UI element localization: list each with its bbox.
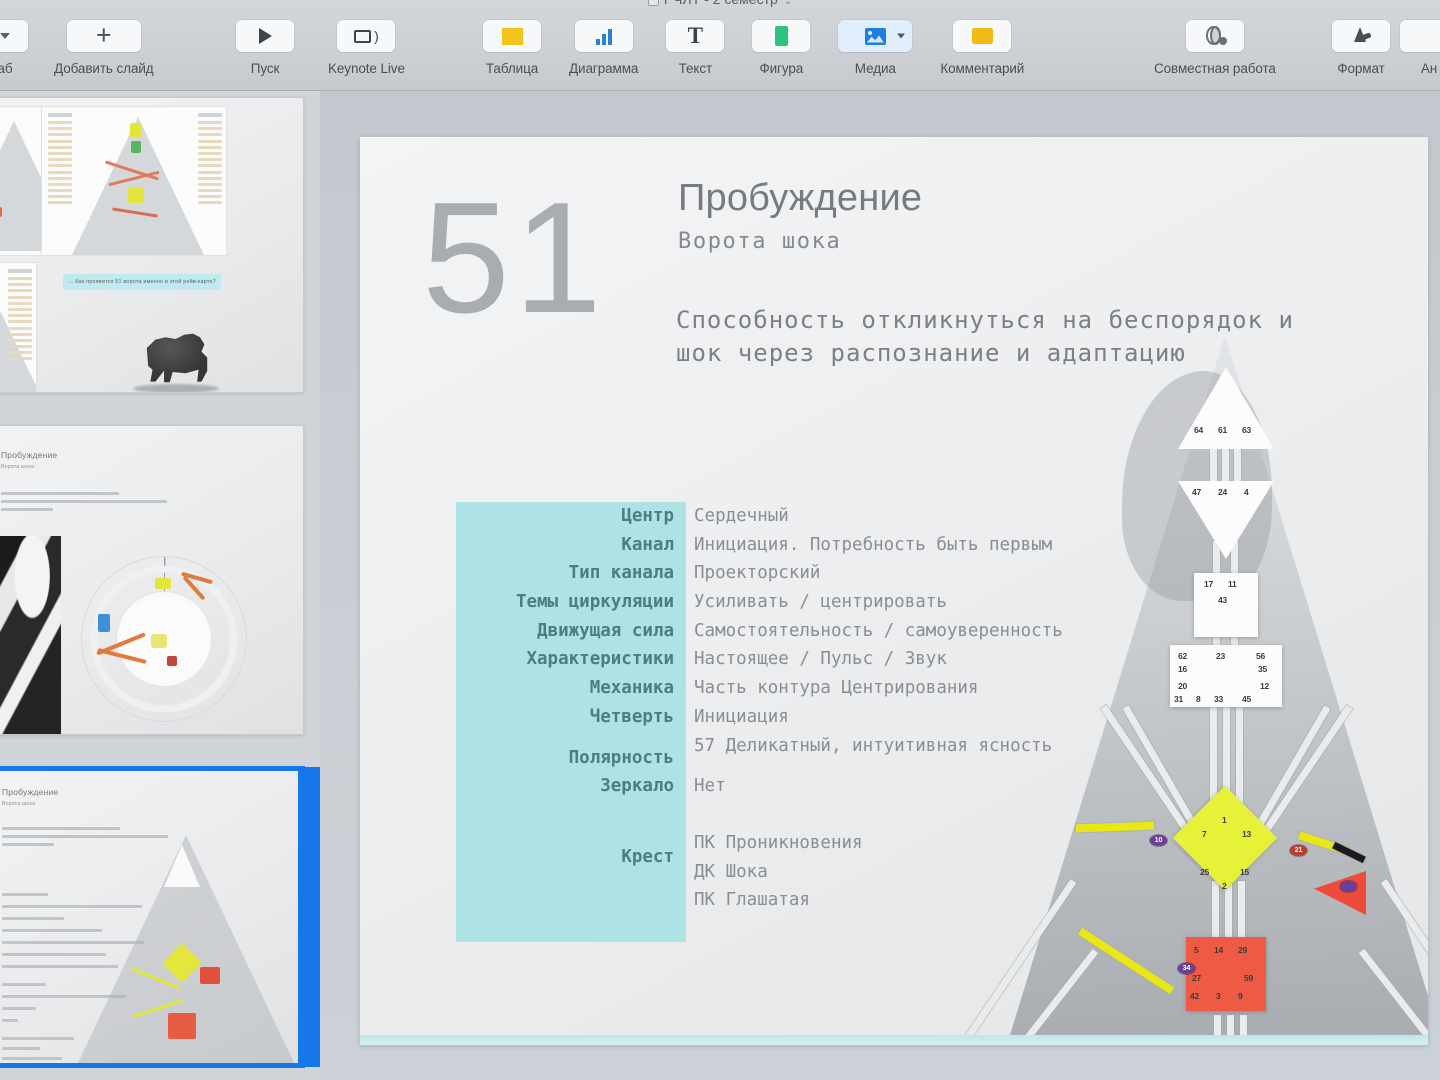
comment-button[interactable]	[953, 20, 1011, 52]
keynote-live-icon: )	[354, 28, 379, 44]
g-marker	[128, 187, 144, 203]
planet-activation-34: 34	[1178, 963, 1195, 974]
info-table: Центр Сердечный Канал Инициация. Потребн…	[456, 502, 1096, 915]
slide-title: Пробуждение	[678, 177, 922, 220]
info-value: Проекторский	[686, 559, 1096, 588]
toolbar-table[interactable]: Таблица	[483, 20, 541, 76]
toolbar-play[interactable]: Пуск	[236, 20, 294, 76]
shape-label: Фигура	[759, 61, 803, 76]
center-marker	[0, 207, 2, 217]
gate-label: 29	[1238, 945, 1247, 955]
toolbar-add-slide[interactable]: Добавить слайд	[54, 20, 154, 76]
animate-button[interactable]	[1400, 20, 1440, 52]
view-menu-button[interactable]	[0, 20, 28, 52]
throat-center-box: 62 23 56 16 35 20 12 31 8 33 45	[1170, 645, 1282, 707]
text-label: Текст	[679, 61, 713, 76]
play-button[interactable]	[236, 20, 294, 52]
comment-label: Комментарий	[940, 61, 1024, 76]
gate-label: 64	[1194, 425, 1203, 435]
slide-subtitle: Ворота шока	[678, 229, 841, 254]
window-title-text: РЧЛТ - 2 семестр	[664, 0, 778, 7]
gate-label: 3	[1216, 991, 1221, 1001]
info-value: Самостоятельность / самоуверенность	[686, 617, 1096, 646]
channel-head-ajna	[1234, 449, 1241, 483]
media-icon	[865, 28, 886, 45]
info-value: 57 Деликатный, интуитивная ясность	[686, 732, 1076, 773]
text-icon[interactable]	[666, 20, 724, 52]
thumb2-text-line	[1, 492, 119, 495]
gate-column	[198, 113, 222, 208]
gate-label: 56	[1256, 651, 1265, 661]
toolbar-collaborate[interactable]: Совместная работа	[1154, 20, 1276, 76]
info-value: Нет	[686, 772, 1096, 801]
thumb3-table-line	[2, 983, 46, 986]
gate-label: 16	[1178, 664, 1187, 674]
collaborate-button[interactable]	[1186, 20, 1244, 52]
thumb3-table-line	[2, 1057, 62, 1060]
gate-label: 5	[1194, 945, 1199, 955]
channel-head-ajna	[1210, 449, 1217, 483]
current-slide[interactable]: 51 Пробуждение Ворота шока Способность о…	[360, 137, 1428, 1045]
plus-icon[interactable]	[67, 20, 141, 52]
info-key: Полярность	[456, 732, 686, 773]
thumb2-subtitle: Ворота шока	[1, 464, 34, 470]
table-button[interactable]	[483, 20, 541, 52]
document-icon	[648, 0, 659, 6]
media-button[interactable]	[838, 20, 912, 52]
gate-label: 14	[1214, 945, 1223, 955]
info-value: Инициация. Потребность быть первым	[686, 531, 1096, 560]
slide-canvas[interactable]: 51 Пробуждение Ворота шока Способность о…	[320, 91, 1440, 1080]
planet-activation-heart	[1340, 881, 1357, 892]
chevron-down-icon	[0, 33, 10, 39]
gate-label: 12	[1260, 681, 1269, 691]
toolbar-text[interactable]: Текст	[666, 20, 724, 76]
gate-label: 11	[1228, 579, 1237, 589]
collaborate-icon	[1204, 26, 1226, 46]
gate-label: 24	[1218, 487, 1227, 497]
gate-label: 17	[1204, 579, 1213, 589]
gate-label: 9	[1238, 991, 1243, 1001]
gate-label: 7	[1202, 829, 1207, 839]
planet-activation-51: 10	[1150, 835, 1167, 846]
throat-center: 17 11 43	[1194, 573, 1258, 637]
ram-shadow	[133, 384, 219, 393]
table-icon	[502, 28, 523, 45]
window-title-bar: РЧЛТ - 2 семестр⌄	[0, 0, 1440, 7]
gate-number: 51	[422, 179, 606, 337]
chart-icon	[596, 27, 612, 45]
gate-column	[48, 113, 72, 208]
info-key: Канал	[456, 531, 686, 560]
toolbar-animate[interactable]: Ан	[1400, 20, 1440, 76]
slide-bottom-accent-bar	[360, 1035, 1428, 1045]
thumb3-text-line	[2, 827, 120, 830]
g-center-marker	[130, 123, 142, 137]
thumb3-subtitle: Ворота шока	[2, 801, 35, 807]
slide-thumbnail-1[interactable]: … Как проявится 51 ворота именно в этой …	[0, 97, 304, 393]
toolbar-comment[interactable]: Комментарий	[940, 20, 1024, 76]
toolbar-view-button[interactable]: аб	[0, 20, 28, 76]
gate-label: 20	[1178, 681, 1187, 691]
animate-label: Ан	[1421, 61, 1437, 76]
gate-label: 8	[1196, 694, 1201, 704]
thumb2-title: Пробуждение	[1, 450, 57, 460]
gate-label: 2	[1222, 881, 1227, 891]
mini-panel-b	[41, 106, 227, 256]
gate-label: 4	[1244, 487, 1249, 497]
info-key: Темы циркуляции	[456, 588, 686, 617]
info-key: Четверть	[456, 703, 686, 732]
channel-head-ajna	[1222, 449, 1229, 483]
mini-panel-c	[0, 262, 37, 393]
keynote-live-button[interactable]: )	[337, 20, 395, 52]
chevron-down-icon[interactable]	[897, 34, 905, 39]
mandala-marker	[155, 578, 171, 589]
gate-label: 13	[1242, 829, 1251, 839]
pyramid-shape	[72, 117, 204, 255]
shape-button[interactable]	[752, 20, 810, 52]
title-chevron-icon[interactable]: ⌄	[784, 0, 792, 7]
speech-bubble: … Как проявится 51 ворота именно в этой …	[63, 274, 221, 290]
info-value: Усиливать / центрировать	[686, 588, 1096, 617]
info-value: Сердечный	[686, 502, 1096, 531]
planet-activation-21: 21	[1290, 845, 1307, 856]
chart-button[interactable]	[575, 20, 633, 52]
info-key: Тип канала	[456, 559, 686, 588]
gate-label: 33	[1214, 694, 1223, 704]
table-label: Таблица	[486, 61, 538, 76]
info-value: Инициация	[686, 703, 1096, 732]
mandala-center	[151, 634, 167, 648]
gate-label: 15	[1240, 867, 1249, 877]
chart-label: Диаграмма	[569, 61, 638, 76]
format-button[interactable]	[1332, 20, 1390, 52]
thumb2-text-line	[1, 508, 53, 511]
mandala-marker	[167, 656, 177, 666]
gate-label: 61	[1218, 425, 1227, 435]
thumb3-sacral-center	[168, 1013, 196, 1039]
bw-photo	[0, 536, 61, 735]
gate-column	[8, 269, 32, 364]
gate-label: 1	[1222, 815, 1227, 825]
gate-label: 43	[1218, 595, 1227, 605]
play-icon	[259, 28, 272, 44]
add-slide-label: Добавить слайд	[54, 61, 154, 76]
slide-navigator[interactable]: … Как проявится 51 ворота именно в этой …	[0, 91, 320, 1080]
format-brush-icon	[1350, 26, 1372, 46]
info-value: Часть контура Центрирования	[686, 674, 1096, 703]
shape-icon	[775, 26, 788, 46]
app-toolbar: РЧЛТ - 2 семестр⌄ аб Добавить слайд Пуск…	[0, 0, 1440, 91]
gate-label: 25	[1200, 867, 1209, 877]
thumb2-text-line	[1, 500, 167, 503]
comment-icon	[972, 28, 993, 44]
thumb3-table-line	[2, 1019, 18, 1022]
thumb3-table-line	[2, 1037, 74, 1040]
toolbar-media[interactable]: Медиа	[838, 20, 912, 76]
thumb3-table-line	[2, 917, 64, 920]
thumb3-text-line	[2, 843, 54, 846]
sacral-center: 5 14 29 27 59 42 3 9	[1186, 937, 1266, 1011]
gate-label: 42	[1190, 991, 1199, 1001]
keynote-live-label: Keynote Live	[328, 61, 405, 76]
slide-thumbnail-2[interactable]: Пробуждение Ворота шока	[0, 425, 304, 735]
thumb3-table-line	[2, 1047, 40, 1050]
info-key: Характеристики	[456, 645, 686, 674]
thumb3-head-center	[164, 845, 200, 887]
toolbar-shape[interactable]: Фигура	[752, 20, 810, 76]
gate-label: 47	[1192, 487, 1201, 497]
toolbar-chart[interactable]: Диаграмма	[569, 20, 638, 76]
info-key: Механика	[456, 674, 686, 703]
gate-label: 31	[1174, 694, 1183, 704]
thumb3-table-line	[2, 893, 48, 896]
collaborate-label: Совместная работа	[1154, 61, 1276, 76]
gate-label: 35	[1258, 664, 1267, 674]
gate-label: 27	[1192, 973, 1201, 983]
thumb3-table-line	[2, 1007, 36, 1010]
toolbar-keynote-live[interactable]: ) Keynote Live	[328, 20, 405, 76]
view-label: аб	[0, 61, 13, 76]
toolbar-format[interactable]: Формат	[1332, 20, 1390, 76]
mandala-marker	[98, 614, 110, 632]
throat-marker	[131, 141, 141, 153]
info-key: Центр	[456, 502, 686, 531]
thumb3-title: Пробуждение	[2, 787, 58, 797]
gate-label: 59	[1244, 973, 1253, 983]
play-label: Пуск	[251, 61, 280, 76]
media-label: Медиа	[855, 61, 896, 76]
gate-label: 23	[1216, 651, 1225, 661]
thumb3-heart-center	[200, 967, 220, 984]
info-key: Крест	[456, 801, 686, 915]
gate-label: 45	[1242, 694, 1251, 704]
gate-label: 63	[1242, 425, 1251, 435]
gate-label: 62	[1178, 651, 1187, 661]
info-key: Движущая сила	[456, 617, 686, 646]
slide-3-selection-edge	[298, 767, 320, 1067]
info-value: ПК Проникновения ДК Шока ПК Глашатая	[686, 801, 1096, 915]
info-key: Зеркало	[456, 772, 686, 801]
slide-thumbnail-3[interactable]: Пробуждение Ворота шока	[0, 767, 304, 1067]
format-label: Формат	[1337, 61, 1384, 76]
info-value: Настоящее / Пульс / Звук	[686, 645, 1096, 674]
